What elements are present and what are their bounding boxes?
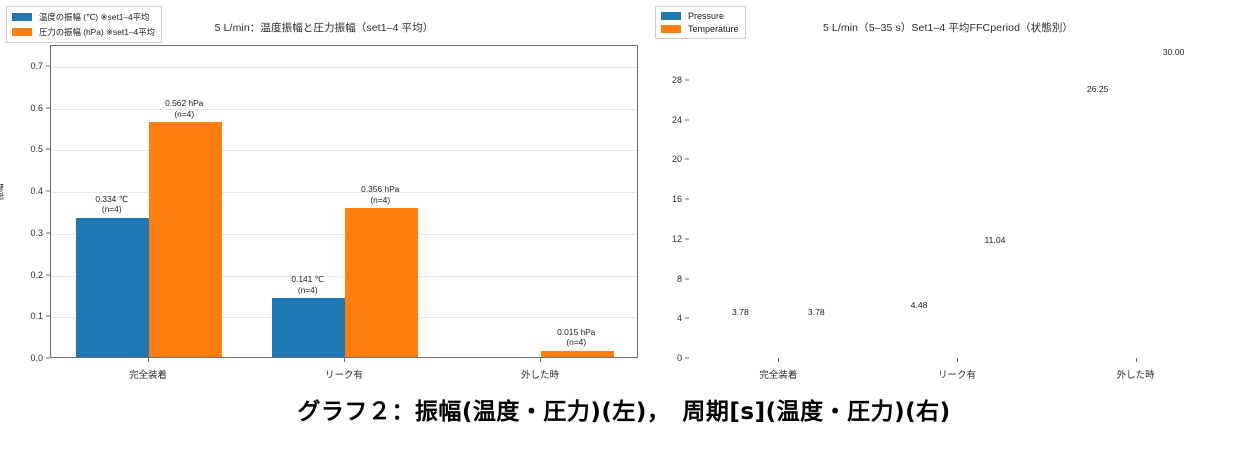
y-tick-label: 0.2	[10, 270, 43, 280]
bar-value-label-temperature_amplitude-0: 0.334 ℃ (n=4)	[95, 194, 128, 215]
y-tick-label: 16	[649, 194, 682, 204]
bar-value-label-pressure-0: 3.78	[732, 307, 749, 318]
legend-swatch-icon	[661, 12, 681, 20]
y-tick-label: 0.0	[10, 353, 43, 363]
legend-item-pressure-amplitude: 圧力の振幅 (hPa) ※set1–4平均	[12, 26, 155, 38]
bar-value-label-pressure-1: 4.48	[911, 300, 928, 311]
x-tick-label: 外した時	[1117, 367, 1155, 381]
x-tick-label: リーク有	[938, 367, 976, 381]
bar-value-label-temperature_amplitude-1: 0.141 ℃ (n=4)	[291, 274, 324, 295]
x-tick-mark	[957, 358, 958, 362]
y-tick-mark	[46, 358, 50, 359]
bar-value-label-pressure_amplitude-1: 0.356 hPa (n=4)	[361, 184, 399, 205]
figure-row: 5 L/min：温度振幅と圧力振幅（set1–4 平均） 0.00.10.20.…	[0, 0, 1248, 388]
bar-pressure_amplitude-0	[149, 122, 222, 357]
y-tick-label: 24	[649, 115, 682, 125]
x-tick-label: リーク有	[325, 367, 363, 381]
legend-swatch-icon	[12, 13, 32, 21]
y-tick-label: 0.6	[10, 103, 43, 113]
y-tick-label: 0.5	[10, 144, 43, 154]
y-tick-mark	[46, 191, 50, 192]
x-tick-label: 完全装着	[129, 367, 167, 381]
y-tick-mark	[685, 318, 689, 319]
amplitude-plot-area	[50, 45, 638, 358]
bar-value-label-pressure_amplitude-2: 0.015 hPa (n=4)	[557, 327, 595, 348]
amplitude-chart-panel: 5 L/min：温度振幅と圧力振幅（set1–4 平均） 0.00.10.20.…	[0, 0, 648, 388]
x-tick-mark	[344, 358, 345, 362]
legend-label: Temperature	[688, 24, 739, 34]
x-tick-label: 外した時	[521, 367, 559, 381]
bar-pressure_amplitude-2	[541, 351, 614, 357]
y-tick-label: 0.3	[10, 228, 43, 238]
bar-value-label-pressure-2: 26.25	[1087, 84, 1109, 95]
y-tick-mark	[685, 358, 689, 359]
y-tick-label: 0	[649, 353, 682, 363]
y-tick-label: 8	[649, 274, 682, 284]
gridline	[51, 67, 637, 68]
gridline	[51, 192, 637, 193]
figure-caption: グラフ２：振幅(温度・圧力)(左)， 周期[s](温度・圧力)(右)	[0, 392, 1248, 426]
y-tick-mark	[46, 65, 50, 66]
bar-pressure_amplitude-1	[345, 208, 418, 357]
y-tick-mark	[685, 119, 689, 120]
legend-item-temperature-amplitude: 温度の振幅 (℃) ※set1–4平均	[12, 11, 155, 23]
legend-label: 圧力の振幅 (hPa) ※set1–4平均	[39, 26, 155, 38]
y-tick-mark	[685, 278, 689, 279]
x-tick-mark	[778, 358, 779, 362]
bar-temperature_amplitude-1	[272, 298, 345, 357]
y-tick-label: 4	[649, 313, 682, 323]
y-tick-label: 0.7	[10, 61, 43, 71]
x-tick-mark	[148, 358, 149, 362]
legend-swatch-icon	[12, 28, 32, 36]
y-tick-mark	[46, 274, 50, 275]
legend-item-temperature: Temperature	[661, 24, 739, 34]
y-tick-mark	[685, 238, 689, 239]
x-tick-label: 完全装着	[759, 367, 797, 381]
ffcperiod-chart-panel: 5 L/min（5–35 s）Set1–4 平均FFCperiod（状態別） 0…	[648, 0, 1248, 388]
legend-label: Pressure	[688, 11, 724, 21]
gridline	[51, 150, 637, 151]
bar-value-label-temperature-0: 3.78	[808, 307, 825, 318]
amplitude-y-axis-label: 振幅	[0, 183, 6, 200]
bar-temperature_amplitude-0	[76, 218, 149, 357]
legend-swatch-icon	[661, 25, 681, 33]
y-tick-mark	[685, 199, 689, 200]
legend-item-pressure: Pressure	[661, 11, 739, 21]
x-tick-mark	[540, 358, 541, 362]
y-tick-label: 12	[649, 234, 682, 244]
y-tick-mark	[685, 79, 689, 80]
y-tick-label: 28	[649, 75, 682, 85]
legend-label: 温度の振幅 (℃) ※set1–4平均	[39, 11, 149, 23]
y-tick-mark	[46, 316, 50, 317]
y-tick-mark	[46, 107, 50, 108]
y-tick-mark	[46, 149, 50, 150]
gridline	[51, 109, 637, 110]
ffcperiod-legend: Pressure Temperature	[655, 6, 746, 39]
y-tick-mark	[685, 159, 689, 160]
y-tick-label: 0.1	[10, 311, 43, 321]
amplitude-legend: 温度の振幅 (℃) ※set1–4平均 圧力の振幅 (hPa) ※set1–4平…	[6, 6, 162, 43]
y-tick-label: 0.4	[10, 186, 43, 196]
x-tick-mark	[1136, 358, 1137, 362]
bar-value-label-pressure_amplitude-0: 0.562 hPa (n=4)	[165, 98, 203, 119]
y-tick-mark	[46, 232, 50, 233]
y-tick-label: 20	[649, 154, 682, 164]
bar-value-label-temperature-2: 30.00	[1163, 47, 1185, 58]
bar-value-label-temperature-1: 11.04	[985, 235, 1006, 246]
